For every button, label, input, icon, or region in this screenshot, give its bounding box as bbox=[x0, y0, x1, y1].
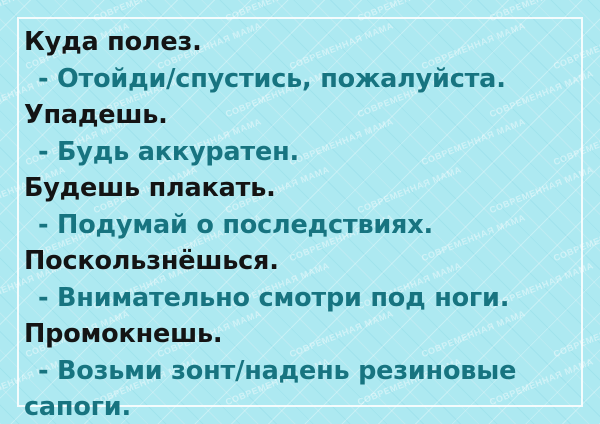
watermark-text: СОВРЕМЕННАЯ МАМА bbox=[488, 0, 595, 23]
dialogue-reply-continuation-line: сапоги. bbox=[24, 389, 582, 424]
dialogue-reply-line: - Возьми зонт/надень резиновые bbox=[24, 353, 582, 390]
dialogue-statement-line: Будешь плакать. bbox=[24, 170, 582, 207]
dialogue-statement-line: Поскользнёшься. bbox=[24, 243, 582, 280]
meme-card: СОВРЕМЕННАЯ МАМАСОВРЕМЕННАЯ МАМАСОВРЕМЕН… bbox=[0, 0, 600, 424]
dialogue-reply-line: - Будь аккуратен. bbox=[24, 134, 582, 171]
watermark-text: СОВРЕМЕННАЯ МАМА bbox=[224, 0, 331, 23]
dialogue-list: Куда полез.- Отойди/спустись, пожалуйста… bbox=[24, 24, 582, 412]
dialogue-statement-line: Куда полез. bbox=[24, 24, 582, 61]
dialogue-reply-line: - Подумай о последствиях. bbox=[24, 207, 582, 244]
dialogue-statement-line: Упадешь. bbox=[24, 97, 582, 134]
dialogue-reply-line: - Внимательно смотри под ноги. bbox=[24, 280, 582, 317]
dialogue-statement-line: Промокнешь. bbox=[24, 316, 582, 353]
watermark-text: СОВРЕМЕННАЯ МАМА bbox=[92, 0, 199, 23]
watermark-text: СОВРЕМЕННАЯ МАМА bbox=[0, 0, 67, 23]
dialogue-reply-line: - Отойди/спустись, пожалуйста. bbox=[24, 61, 582, 98]
watermark-text: СОВРЕМЕННАЯ МАМА bbox=[356, 0, 463, 23]
